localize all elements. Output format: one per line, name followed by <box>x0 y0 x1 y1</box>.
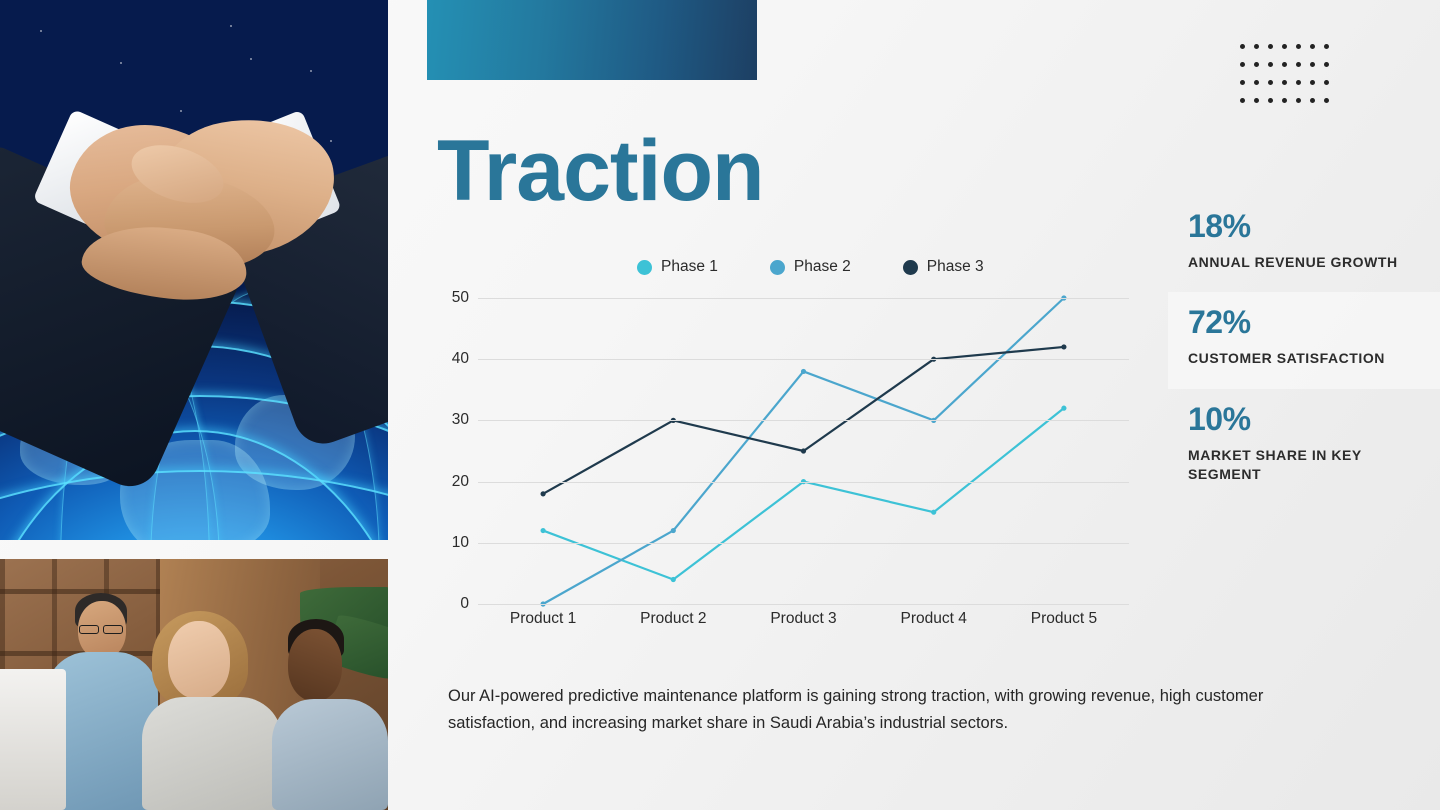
chart-x-axis-labels: Product 1Product 2Product 3Product 4Prod… <box>478 610 1129 628</box>
legend-swatch-icon <box>903 260 918 275</box>
chart-x-tick-label: Product 3 <box>738 610 868 628</box>
legend-swatch-icon <box>637 260 652 275</box>
grid-dot <box>1240 80 1245 85</box>
computer-monitor <box>0 669 66 810</box>
stat-value: 72% <box>1188 306 1420 340</box>
grid-dot <box>1324 44 1329 49</box>
legend-label: Phase 3 <box>927 258 984 276</box>
office-team-photo <box>0 559 388 810</box>
chart-data-point[interactable] <box>801 369 806 374</box>
grid-dot <box>1268 62 1273 67</box>
chart-y-tick-label: 30 <box>429 411 469 429</box>
chart-gridline <box>478 420 1129 421</box>
chart-data-point[interactable] <box>541 528 546 533</box>
grid-dot <box>1240 44 1245 49</box>
chart-gridline <box>478 298 1129 299</box>
grid-dot <box>1268 80 1273 85</box>
grid-dot <box>1296 98 1301 103</box>
grid-dot <box>1254 44 1259 49</box>
chart-series-line-1 <box>543 408 1064 579</box>
chart-x-tick-label: Product 4 <box>869 610 999 628</box>
chart-gridline <box>478 543 1129 544</box>
chart-data-point[interactable] <box>671 577 676 582</box>
page-title: Traction <box>437 128 764 214</box>
chart-y-tick-label: 0 <box>429 595 469 613</box>
grid-dot <box>1240 98 1245 103</box>
grid-dot <box>1324 80 1329 85</box>
chart-legend: Phase 1Phase 2Phase 3 <box>637 258 984 276</box>
grid-dot <box>1324 98 1329 103</box>
chart-gridline <box>478 359 1129 360</box>
globe-illustration <box>0 0 388 540</box>
stat-label: CUSTOMER SATISFACTION <box>1188 349 1420 369</box>
grid-dot <box>1310 44 1315 49</box>
chart-lines <box>478 298 1129 604</box>
stat-value: 10% <box>1188 403 1420 437</box>
grid-dot <box>1282 44 1287 49</box>
chart-data-point[interactable] <box>1061 344 1066 349</box>
grid-dot <box>1282 98 1287 103</box>
grid-dot <box>1324 62 1329 67</box>
grid-dot <box>1310 98 1315 103</box>
header-accent-bar <box>427 0 757 80</box>
slide-caption: Our AI-powered predictive maintenance pl… <box>448 683 1338 736</box>
grid-dot <box>1254 98 1259 103</box>
grid-dot <box>1268 44 1273 49</box>
chart-gridline <box>478 482 1129 483</box>
office-illustration <box>0 559 388 810</box>
chart-y-tick-label: 40 <box>429 350 469 368</box>
chart-y-tick-label: 20 <box>429 473 469 491</box>
chart-data-point[interactable] <box>671 528 676 533</box>
grid-dot <box>1268 98 1273 103</box>
traction-line-chart: Phase 1Phase 2Phase 3 01020304050 Produc… <box>437 258 1137 638</box>
chart-y-tick-label: 50 <box>429 289 469 307</box>
grid-dot <box>1282 80 1287 85</box>
stat-card-3: 10%MARKET SHARE IN KEY SEGMENT <box>1168 389 1440 505</box>
grid-dot <box>1254 62 1259 67</box>
grid-dot <box>1296 44 1301 49</box>
stat-value: 18% <box>1188 210 1420 244</box>
chart-x-tick-label: Product 1 <box>478 610 608 628</box>
chart-y-tick-label: 10 <box>429 534 469 552</box>
stat-card-2: 72%CUSTOMER SATISFACTION <box>1168 292 1440 388</box>
grid-dot <box>1296 80 1301 85</box>
legend-swatch-icon <box>770 260 785 275</box>
grid-dot <box>1254 80 1259 85</box>
chart-data-point[interactable] <box>1061 406 1066 411</box>
grid-dot <box>1240 62 1245 67</box>
grid-dot <box>1282 62 1287 67</box>
slide-root: Traction Phase 1Phase 2Phase 3 010203040… <box>0 0 1440 810</box>
left-image-column <box>0 0 388 810</box>
chart-data-point[interactable] <box>931 510 936 515</box>
legend-label: Phase 2 <box>794 258 851 276</box>
legend-item-1[interactable]: Phase 1 <box>637 258 718 276</box>
stat-card-1: 18%ANNUAL REVENUE GROWTH <box>1168 196 1440 292</box>
legend-item-3[interactable]: Phase 3 <box>903 258 984 276</box>
legend-label: Phase 1 <box>661 258 718 276</box>
chart-data-point[interactable] <box>541 491 546 496</box>
stat-label: ANNUAL REVENUE GROWTH <box>1188 253 1420 273</box>
handshake-globe-photo <box>0 0 388 540</box>
grid-dot <box>1296 62 1301 67</box>
chart-data-point[interactable] <box>801 448 806 453</box>
grid-dot <box>1310 62 1315 67</box>
legend-item-2[interactable]: Phase 2 <box>770 258 851 276</box>
grid-dot <box>1310 80 1315 85</box>
chart-x-tick-label: Product 5 <box>999 610 1129 628</box>
chart-x-tick-label: Product 2 <box>608 610 738 628</box>
dot-grid-decoration <box>1240 44 1338 116</box>
stats-panel: 18%ANNUAL REVENUE GROWTH72%CUSTOMER SATI… <box>1168 196 1440 505</box>
chart-plot-area: 01020304050 <box>478 298 1129 604</box>
stat-label: MARKET SHARE IN KEY SEGMENT <box>1188 446 1420 486</box>
chart-gridline <box>478 604 1129 605</box>
